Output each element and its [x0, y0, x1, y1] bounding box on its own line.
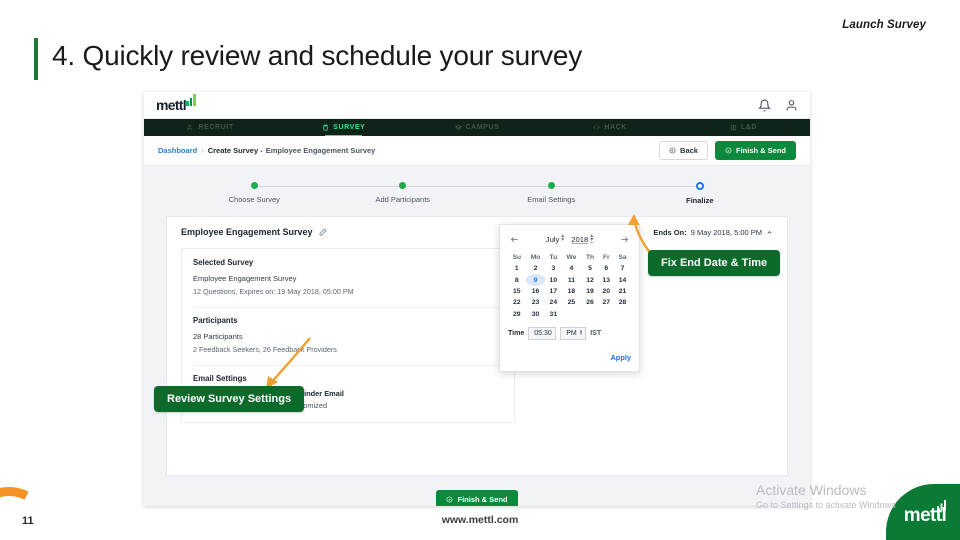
calendar-day[interactable]: 28	[614, 297, 631, 308]
calendar-week-row: 22 23 24 25 26 27 28	[508, 297, 631, 308]
wizard-stepper: Choose Survey Add Participants Email Set…	[180, 182, 774, 212]
year-select[interactable]: 2018 ▴▾	[571, 235, 593, 244]
finish-send-label-bottom: Finish & Send	[457, 495, 507, 504]
step-connector	[551, 186, 700, 187]
participants-breakdown: 2 Feedback Seekers, 26 Feedback Provider…	[193, 344, 503, 356]
mettl-corner-badge: mettl	[886, 484, 960, 540]
year-spinner-icon: ▴▾	[590, 235, 593, 242]
bell-icon[interactable]	[758, 99, 771, 112]
header-actions: Back Finish & Send	[659, 141, 796, 160]
nav-label-campus: CAMPUS	[466, 124, 500, 131]
apply-row: Apply	[508, 347, 631, 365]
calendar-day[interactable]: 17	[545, 286, 561, 297]
arrow-right-icon[interactable]	[620, 235, 629, 244]
month-spinner-icon: ▴▾	[561, 235, 564, 242]
calendar-day[interactable]: 6	[598, 263, 614, 274]
email-settings-heading: Email Settings	[193, 374, 503, 383]
calendar-day-empty	[614, 309, 631, 320]
month-value: July	[546, 235, 560, 244]
finish-row: Finish & Send	[144, 490, 810, 506]
mettl-wordmark: mettl	[904, 505, 946, 527]
calendar-week-row: 15 16 17 18 19 20 21	[508, 286, 631, 297]
calendar-day[interactable]: 25	[561, 297, 581, 308]
selected-survey-meta: 12 Questions, Expires on: 19 May 2018, 0…	[193, 286, 503, 298]
nav-item-hack[interactable]: HACK	[544, 119, 677, 136]
weekday-tu: Tu	[545, 251, 561, 263]
chevron-up-icon	[766, 229, 773, 236]
ends-on-label: Ends On:	[653, 228, 686, 237]
callout-fix-end-date: Fix End Date & Time	[648, 250, 780, 276]
check-circle-icon	[725, 147, 732, 154]
time-row: Time 05:30 PM ▴▾ IST	[508, 327, 631, 340]
activate-windows-subtitle: Go to Settings to activate Windows	[756, 500, 896, 510]
calendar-day[interactable]: 3	[545, 263, 561, 274]
calendar-day[interactable]: 4	[561, 263, 581, 274]
step-finalize[interactable]: Finalize	[626, 182, 775, 212]
weekday-fr: Fr	[598, 251, 614, 263]
participants-heading: Participants	[193, 316, 503, 325]
back-button-label: Back	[680, 146, 698, 155]
calendar-day-empty	[561, 309, 581, 320]
weekday-su: Su	[508, 251, 526, 263]
meridiem-spinner-icon: ▴▾	[580, 330, 583, 336]
weekday-sa: Sa	[614, 251, 631, 263]
time-input[interactable]: 05:30	[528, 327, 556, 340]
breadcrumb-current: Create Survey -	[208, 146, 263, 155]
calendar-day[interactable]: 12	[582, 274, 599, 285]
step-label-email-settings: Email Settings	[477, 195, 626, 204]
logo-bars-icon	[186, 94, 196, 106]
nav-item-recruit[interactable]: RECRUIT	[144, 119, 277, 136]
ends-on-control[interactable]: Ends On: 9 May 2018, 5:00 PM	[653, 228, 773, 237]
calendar-day[interactable]: 26	[582, 297, 599, 308]
code-icon	[593, 124, 600, 131]
calendar-day[interactable]: 21	[614, 286, 631, 297]
users-icon	[187, 124, 194, 131]
page-title: 4. Quickly review and schedule your surv…	[52, 40, 582, 72]
ends-on-value: 9 May 2018, 5:00 PM	[691, 228, 762, 237]
calendar-week-row: 29 30 31	[508, 309, 631, 320]
breadcrumb-dashboard[interactable]: Dashboard	[158, 146, 197, 155]
finish-send-button-top[interactable]: Finish & Send	[715, 141, 796, 160]
calendar-day[interactable]: 22	[508, 297, 526, 308]
back-button[interactable]: Back	[659, 141, 708, 160]
calendar-day[interactable]: 14	[614, 274, 631, 285]
sheet-header: Employee Engagement Survey Ends On: 9 Ma…	[181, 227, 773, 237]
finish-send-button-bottom[interactable]: Finish & Send	[436, 490, 517, 506]
slide-kicker: Launch Survey	[842, 19, 926, 31]
step-dot	[251, 182, 258, 189]
activate-windows-title: Activate Windows	[756, 482, 896, 498]
breadcrumb-bar: Dashboard › Create Survey - Employee Eng…	[144, 136, 810, 166]
app-logo[interactable]: mettl	[156, 97, 195, 113]
breadcrumb-tail: Employee Engagement Survey	[266, 146, 376, 155]
calendar-day[interactable]: 2	[526, 263, 546, 274]
calendar-day[interactable]: 15	[508, 286, 526, 297]
footer-url: www.mettl.com	[0, 514, 960, 526]
step-add-participants[interactable]: Add Participants	[329, 182, 478, 212]
weekday-th: Th	[582, 251, 599, 263]
calendar-day-empty	[582, 309, 599, 320]
app-nav: RECRUIT SURVEY CAMPUS HACK L&D	[144, 119, 810, 136]
step-connector	[403, 186, 552, 187]
app-logo-text: mettl	[156, 97, 186, 113]
calendar-weekday-row: Su Mo Tu We Th Fr Sa	[508, 251, 631, 263]
meridiem-value: PM	[566, 330, 577, 337]
datepicker-header: July ▴▾ 2018 ▴▾	[508, 232, 631, 246]
slide-canvas: Launch Survey 4. Quickly review and sche…	[0, 0, 960, 540]
step-label-add-participants: Add Participants	[329, 195, 478, 204]
step-label-finalize: Finalize	[626, 196, 775, 205]
nav-label-survey: SURVEY	[333, 124, 365, 131]
finish-send-label-top: Finish & Send	[736, 146, 786, 155]
apply-link[interactable]: Apply	[610, 353, 631, 362]
cap-icon	[455, 124, 462, 131]
step-dot-current	[696, 182, 704, 190]
calendar-day[interactable]: 8	[508, 274, 526, 285]
step-label-choose-survey: Choose Survey	[180, 195, 329, 204]
calendar-day[interactable]: 24	[545, 297, 561, 308]
arrow-left-icon[interactable]	[510, 235, 519, 244]
topbar-actions	[758, 99, 798, 112]
clipboard-icon	[322, 124, 329, 131]
survey-name-heading: Employee Engagement Survey	[181, 227, 313, 237]
calendar-day[interactable]: 18	[561, 286, 581, 297]
edit-pencil-icon[interactable]	[319, 228, 327, 236]
calendar-grid: Su Mo Tu We Th Fr Sa 1 2 3 4 5 6 7	[508, 251, 631, 320]
calendar-week-row: 8 9 10 11 12 13 14	[508, 274, 631, 285]
title-accent-bar	[34, 38, 38, 80]
calendar-day[interactable]: 16	[526, 286, 546, 297]
calendar-day[interactable]: 1	[508, 263, 526, 274]
calendar-day[interactable]: 13	[598, 274, 614, 285]
step-dot	[548, 182, 555, 189]
calendar-day[interactable]: 20	[598, 286, 614, 297]
timezone-label: IST	[590, 330, 601, 337]
card-divider	[193, 307, 503, 308]
calendar-day[interactable]: 27	[598, 297, 614, 308]
app-window: mettl RECRUIT SURVEY	[144, 92, 810, 506]
step-choose-survey[interactable]: Choose Survey	[180, 182, 329, 212]
participants-count: 28 Participants	[193, 331, 503, 344]
step-email-settings[interactable]: Email Settings	[477, 182, 626, 212]
nav-label-hack: HACK	[604, 124, 627, 131]
activate-windows-watermark: Activate Windows Go to Settings to activ…	[756, 482, 896, 510]
calendar-day[interactable]: 7	[614, 263, 631, 274]
calendar-body: 1 2 3 4 5 6 7 8 9 10 11 12 13 14	[508, 263, 631, 320]
nav-label-recruit: RECRUIT	[198, 124, 233, 131]
nav-item-campus[interactable]: CAMPUS	[410, 119, 543, 136]
nav-item-ld[interactable]: L&D	[677, 119, 810, 136]
card-divider	[193, 365, 503, 366]
back-arrow-icon	[669, 147, 676, 154]
calendar-day[interactable]: 30	[526, 309, 546, 320]
orange-arc-decoration	[0, 476, 63, 540]
meridiem-select[interactable]: PM ▴▾	[560, 327, 586, 340]
selected-survey-heading: Selected Survey	[193, 258, 503, 267]
selected-survey-name: Employee Engagement Survey	[193, 273, 503, 286]
user-icon[interactable]	[785, 99, 798, 112]
step-dot	[399, 182, 406, 189]
calendar-day[interactable]: 29	[508, 309, 526, 320]
nav-item-survey[interactable]: SURVEY	[277, 119, 410, 136]
calendar-day[interactable]: 19	[582, 286, 599, 297]
weekday-mo: Mo	[526, 251, 546, 263]
calendar-day[interactable]: 11	[561, 274, 581, 285]
year-value: 2018	[571, 235, 588, 244]
weekday-we: We	[561, 251, 581, 263]
breadcrumb-separator: ›	[201, 146, 204, 155]
calendar-day[interactable]: 31	[545, 309, 561, 320]
calendar-day[interactable]: 23	[526, 297, 546, 308]
callout-review-settings: Review Survey Settings	[154, 386, 304, 412]
nav-label-ld: L&D	[741, 124, 757, 131]
calendar-week-row: 1 2 3 4 5 6 7	[508, 263, 631, 274]
step-connector	[254, 186, 403, 187]
calendar-day[interactable]: 10	[545, 274, 561, 285]
book-icon	[730, 124, 737, 131]
month-select[interactable]: July ▴▾	[546, 235, 565, 244]
app-topbar: mettl	[144, 92, 810, 119]
calendar-day-empty	[598, 309, 614, 320]
date-time-picker[interactable]: July ▴▾ 2018 ▴▾ Su Mo Tu We Th Fr Sa	[499, 224, 640, 372]
calendar-day-selected[interactable]: 9	[526, 274, 546, 285]
time-label: Time	[508, 330, 524, 337]
check-circle-icon	[446, 496, 453, 503]
calendar-day[interactable]: 5	[582, 263, 599, 274]
